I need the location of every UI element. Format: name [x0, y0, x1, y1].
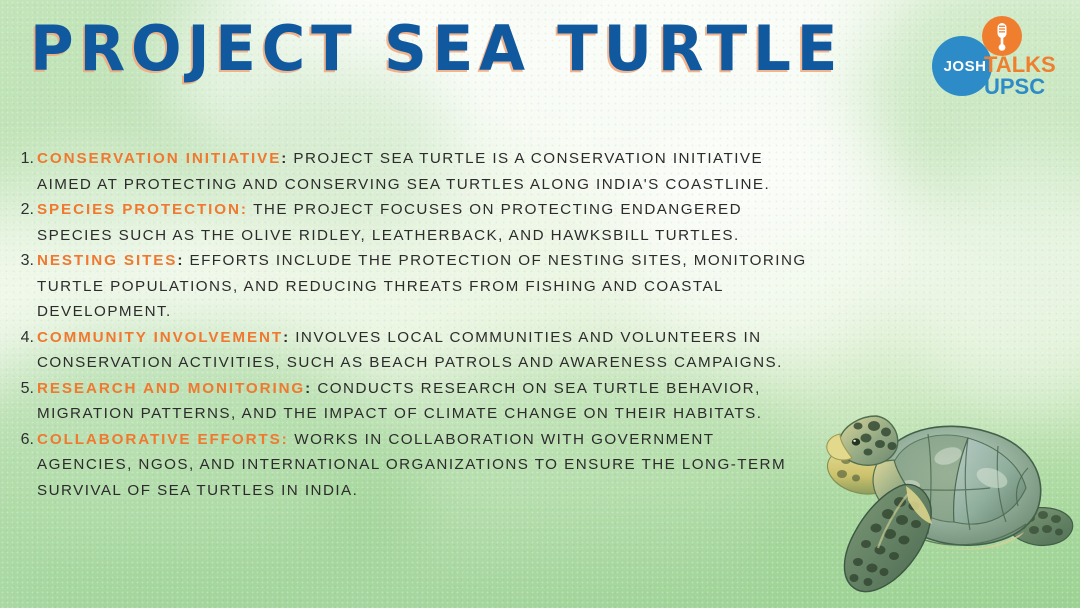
list-item: 2. SPECIES PROTECTION: THE PROJECT FOCUS…	[8, 197, 808, 248]
list-item-body: COLLABORATIVE EFFORTS: WORKS IN COLLABOR…	[37, 427, 808, 504]
list-item: 6. COLLABORATIVE EFFORTS: WORKS IN COLLA…	[8, 427, 808, 504]
microphone-icon	[982, 16, 1022, 56]
list-item: 1. CONSERVATION INITIATIVE: PROJECT SEA …	[8, 146, 808, 197]
turtle-eye	[852, 438, 860, 445]
list-item-body: SPECIES PROTECTION: THE PROJECT FOCUSES …	[37, 197, 808, 248]
list-item-lead: CONSERVATION INITIATIVE	[37, 150, 281, 167]
page-title: PROJECT SEA TURTLE	[30, 18, 843, 80]
list-item-number: 2.	[8, 197, 37, 223]
list-item: 4. COMMUNITY INVOLVEMENT: INVOLVES LOCAL…	[8, 325, 808, 376]
content-list: 1. CONSERVATION INITIATIVE: PROJECT SEA …	[8, 146, 808, 503]
list-item-number: 6.	[8, 427, 37, 453]
list-item-lead: COLLABORATIVE EFFORTS:	[37, 431, 289, 448]
list-item-lead: COMMUNITY INVOLVEMENT	[37, 329, 283, 346]
sea-turtle-illustration	[782, 382, 1080, 608]
list-item-number: 1.	[8, 146, 37, 172]
list-item-body: COMMUNITY INVOLVEMENT: INVOLVES LOCAL CO…	[37, 325, 808, 376]
list-item-lead: RESEARCH AND MONITORING	[37, 380, 305, 397]
list-item-body: RESEARCH AND MONITORING: CONDUCTS RESEAR…	[37, 376, 808, 427]
list-item-body: CONSERVATION INITIATIVE: PROJECT SEA TUR…	[37, 146, 808, 197]
turtle-eye-highlight	[853, 440, 856, 442]
list-item-lead: SPECIES PROTECTION:	[37, 201, 248, 218]
poster-canvas: PROJECT SEA TURTLE JOSH TALKS UPSC 1. CO…	[0, 0, 1080, 608]
list-item-lead: NESTING SITES	[37, 252, 177, 269]
list-item-number: 4.	[8, 325, 37, 351]
list-item-number: 5.	[8, 376, 37, 402]
list-item: 5. RESEARCH AND MONITORING: CONDUCTS RES…	[8, 376, 808, 427]
list-item-number: 3.	[8, 248, 37, 274]
logo-upsc-text: UPSC	[984, 74, 1045, 100]
josh-talks-upsc-logo[interactable]: JOSH TALKS UPSC	[922, 14, 1068, 100]
list-item-body: NESTING SITES: EFFORTS INCLUDE THE PROTE…	[37, 248, 808, 325]
list-item: 3. NESTING SITES: EFFORTS INCLUDE THE PR…	[8, 248, 808, 325]
